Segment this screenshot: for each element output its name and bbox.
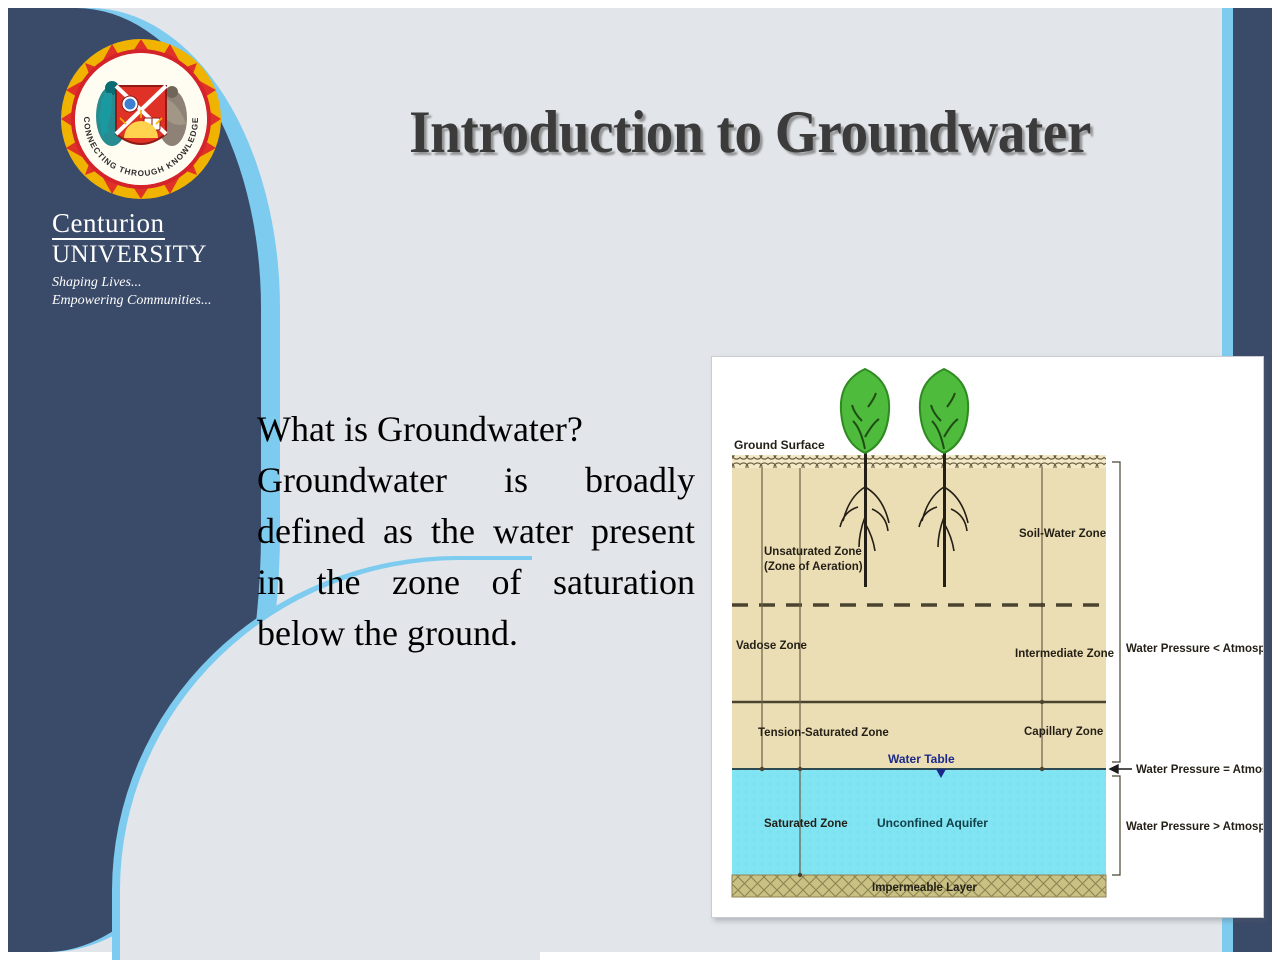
body-text: What is Groundwater?Groundwater is broad… — [257, 404, 695, 659]
label-water-table: Water Table — [888, 752, 955, 766]
label-ground-surface: Ground Surface — [734, 438, 825, 452]
university-logo: सत्यम् संयोजाव वितरणाय च CONNECTING THRO… — [52, 38, 232, 278]
brand-tagline-line2: Empowering Communities... — [52, 292, 232, 310]
label-saturated-zone: Saturated Zone — [764, 818, 848, 830]
groundwater-diagram-panel: Ground Surface Unsaturated Zone (Zone of… — [711, 356, 1264, 918]
label-tension-saturated-zone: Tension-Saturated Zone — [758, 727, 889, 739]
label-impermeable-layer: Impermeable Layer — [872, 882, 977, 894]
label-pressure-equal: Water Pressure = Atmospheric — [1136, 764, 1263, 776]
label-pressure-less: Water Pressure < Atmospheric — [1126, 643, 1263, 655]
slide: सत्यम् संयोजाव वितरणाय च CONNECTING THRO… — [0, 0, 1280, 960]
label-pressure-greater: Water Pressure > Atmospheric — [1126, 821, 1263, 833]
brand-text-block: Centurion UNIVERSITY Shaping Lives... Em… — [52, 210, 232, 309]
label-unsaturated-zone: Unsaturated Zone — [764, 546, 862, 558]
groundwater-diagram: Ground Surface Unsaturated Zone (Zone of… — [712, 357, 1263, 917]
body-paragraph: Groundwater is broadly defined as the wa… — [257, 460, 695, 653]
university-crest-icon: सत्यम् संयोजाव वितरणाय च CONNECTING THRO… — [60, 38, 222, 200]
label-vadose-zone: Vadose Zone — [736, 640, 807, 652]
brand-tagline-line1: Shaping Lives... — [52, 274, 232, 292]
label-intermediate-zone: Intermediate Zone — [1015, 648, 1114, 660]
body-question: What is Groundwater? — [257, 404, 695, 455]
label-soil-water-zone: Soil-Water Zone — [1019, 528, 1106, 540]
brand-name-line2: UNIVERSITY — [52, 242, 232, 268]
label-capillary-zone: Capillary Zone — [1024, 726, 1103, 738]
label-unconfined-aquifer: Unconfined Aquifer — [877, 816, 988, 830]
page-title: Introduction to Groundwater — [336, 98, 1164, 167]
brand-name-line1: Centurion — [52, 210, 165, 240]
label-zone-of-aeration: (Zone of Aeration) — [764, 561, 863, 573]
